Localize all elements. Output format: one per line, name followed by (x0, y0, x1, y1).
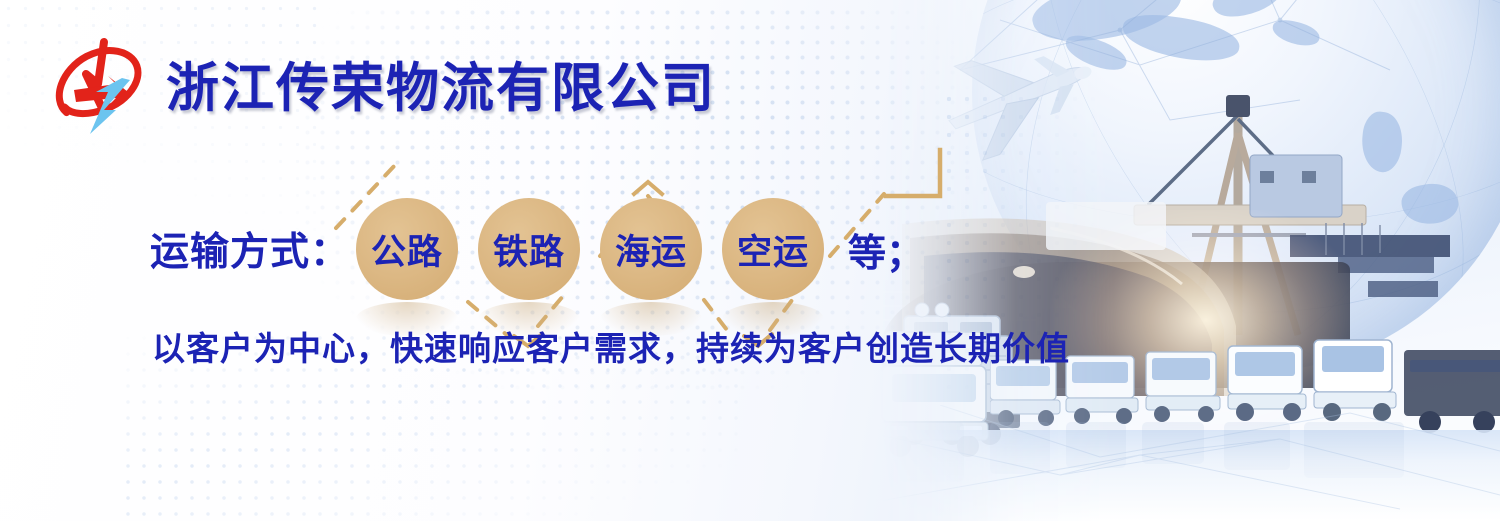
company-name: 浙江传荣物流有限公司 (166, 62, 716, 115)
transport-modes-suffix: 等； (848, 222, 924, 277)
transport-mode-label: 公路 (371, 224, 443, 275)
transport-mode-rail[interactable]: 铁路 (478, 198, 580, 300)
transport-modes-label: 运输方式： (150, 221, 350, 277)
transport-mode-label: 空运 (737, 224, 809, 275)
logistics-banner: 浙江传荣物流有限公司 运输方式： (0, 0, 1500, 521)
company-tagline: 以客户为中心，快速响应客户需求，持续为客户创造长期价值 (152, 322, 1070, 370)
banner-content: 浙江传荣物流有限公司 运输方式： (0, 0, 1000, 521)
transport-mode-sea[interactable]: 海运 (600, 198, 702, 300)
transport-mode-label: 海运 (615, 224, 687, 275)
transport-mode-label: 铁路 (493, 224, 565, 275)
transport-modes-row: 运输方式： 公路 铁路 海运 空运 等； (150, 198, 924, 300)
brand-lockup: 浙江传荣物流有限公司 (46, 36, 716, 140)
transport-mode-air[interactable]: 空运 (722, 198, 824, 300)
orbit-arrow-logo-icon (46, 36, 150, 140)
transport-mode-road[interactable]: 公路 (356, 198, 458, 300)
